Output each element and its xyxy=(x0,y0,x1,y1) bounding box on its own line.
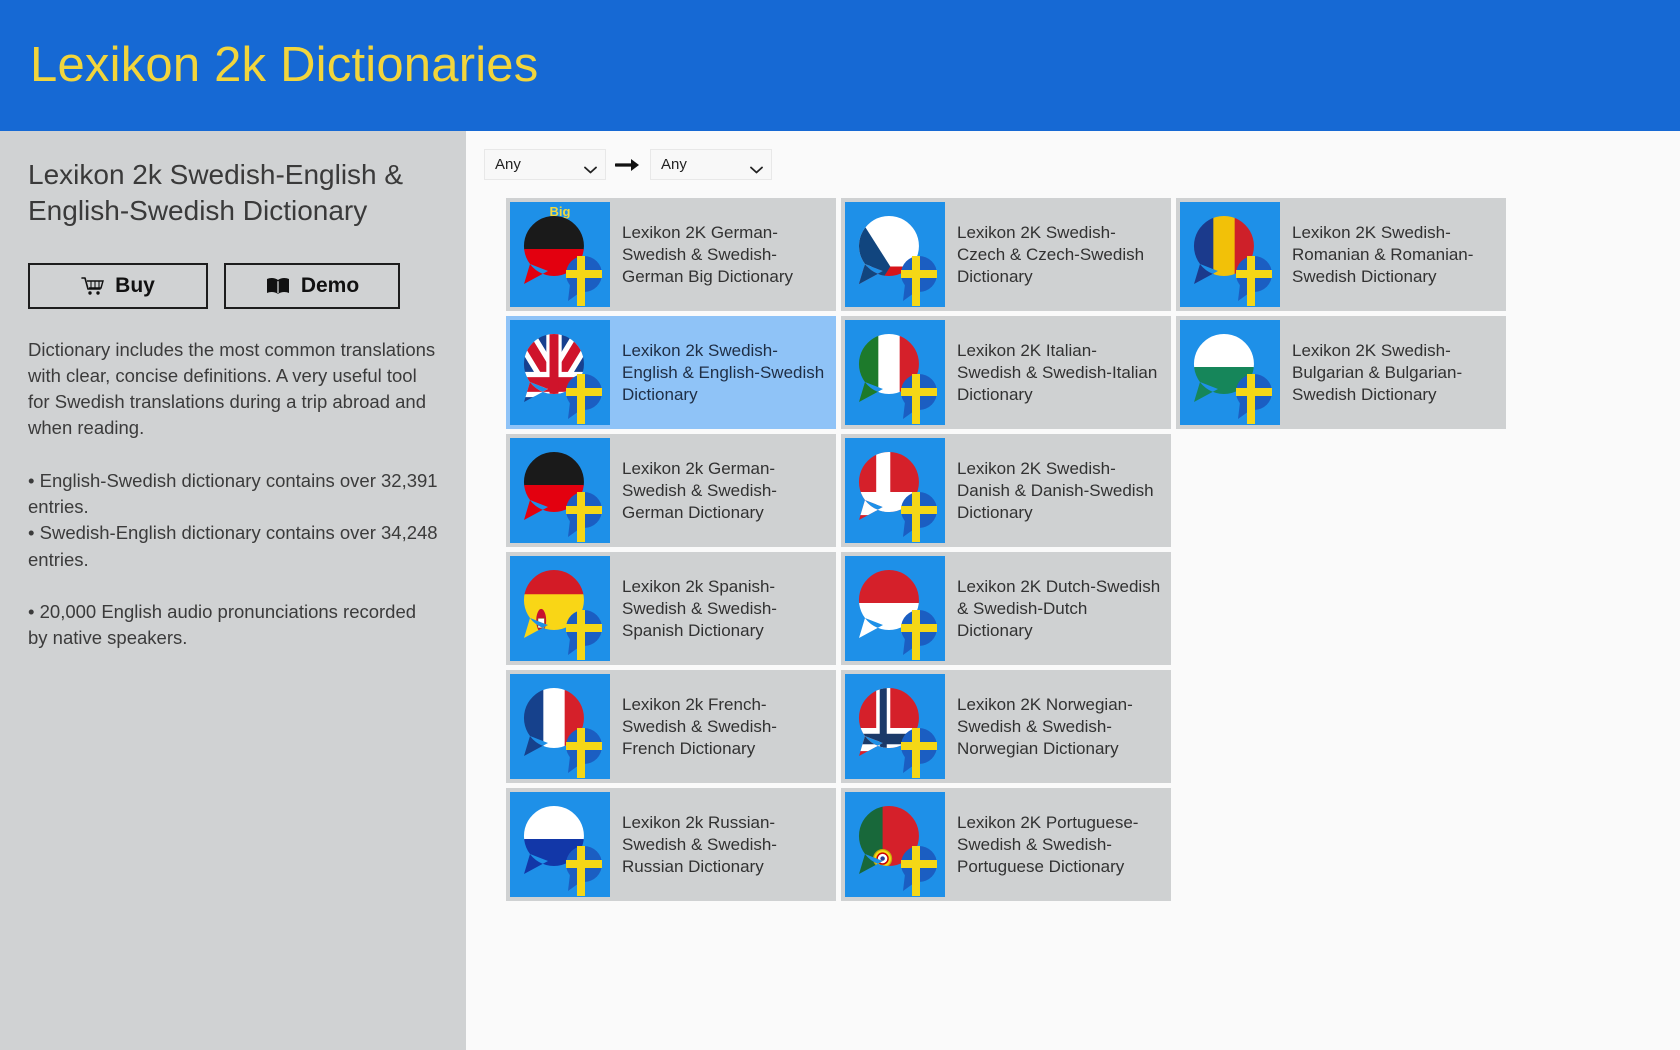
dictionary-item[interactable]: Lexikon 2K Swedish-Bulgarian & Bulgarian… xyxy=(1176,316,1506,429)
buy-button[interactable]: Buy xyxy=(28,263,208,309)
dictionary-item[interactable]: Lexikon 2K Swedish-Romanian & Romanian-S… xyxy=(1176,198,1506,311)
dictionary-item[interactable]: Lexikon 2K Italian-Swedish & Swedish-Ita… xyxy=(841,316,1171,429)
dictionary-flag-icon xyxy=(845,320,945,425)
dictionary-flag-icon xyxy=(845,202,945,307)
dictionary-item[interactable]: Lexikon 2K Swedish-Danish & Danish-Swedi… xyxy=(841,434,1171,547)
dictionary-item-label: Lexikon 2K Swedish-Czech & Czech-Swedish… xyxy=(945,202,1167,287)
dictionary-item-label: Lexikon 2K Portuguese-Swedish & Swedish-… xyxy=(945,792,1167,877)
dictionary-item-label: Lexikon 2K Swedish-Danish & Danish-Swedi… xyxy=(945,438,1167,523)
detail-sidebar: Lexikon 2k Swedish-English & English-Swe… xyxy=(0,131,466,1050)
grid-empty-cell xyxy=(1176,434,1506,547)
action-buttons: Buy Demo xyxy=(28,263,438,309)
feature-item: • Swedish-English dictionary contains ov… xyxy=(28,520,438,573)
page-title: Lexikon 2k Dictionaries xyxy=(30,41,538,90)
dictionary-item-label: Lexikon 2K Swedish-Bulgarian & Bulgarian… xyxy=(1280,320,1502,405)
body-split: Lexikon 2k Swedish-English & English-Swe… xyxy=(0,131,1680,1050)
demo-button[interactable]: Demo xyxy=(224,263,400,309)
grid-empty-cell xyxy=(1176,788,1506,901)
dictionary-item-label: Lexikon 2K Dutch-Swedish & Swedish-Dutch… xyxy=(945,556,1167,641)
dictionary-item[interactable]: Lexikon 2k Russian-Swedish & Swedish-Rus… xyxy=(506,788,836,901)
dictionary-item-label: Lexikon 2k Russian-Swedish & Swedish-Rus… xyxy=(610,792,832,877)
dictionary-item[interactable]: Lexikon 2K Norwegian-Swedish & Swedish-N… xyxy=(841,670,1171,783)
dictionary-item[interactable]: BigLexikon 2K German-Swedish & Swedish-G… xyxy=(506,198,836,311)
demo-button-label: Demo xyxy=(301,274,359,298)
app-header: Lexikon 2k Dictionaries xyxy=(0,0,1680,131)
dictionary-item[interactable]: Lexikon 2K Swedish-Czech & Czech-Swedish… xyxy=(841,198,1171,311)
dictionary-flag-icon xyxy=(510,792,610,897)
filter-bar: Any Any xyxy=(484,149,1680,180)
buy-button-label: Buy xyxy=(115,274,155,298)
chevron-down-icon xyxy=(750,161,763,169)
dictionary-flag-icon xyxy=(1180,202,1280,307)
detail-title: Lexikon 2k Swedish-English & English-Swe… xyxy=(28,157,428,229)
chevron-down-icon xyxy=(584,161,597,169)
source-language-value: Any xyxy=(495,156,521,173)
dictionary-flag-icon xyxy=(510,320,610,425)
dictionary-flag-icon xyxy=(845,792,945,897)
dictionary-flag-icon xyxy=(510,556,610,661)
dictionary-item[interactable]: Lexikon 2k Swedish-English & English-Swe… xyxy=(506,316,836,429)
dictionary-item-label: Lexikon 2K German-Swedish & Swedish-Germ… xyxy=(610,202,832,287)
dictionary-item-label: Lexikon 2K Norwegian-Swedish & Swedish-N… xyxy=(945,674,1167,759)
shopping-cart-icon xyxy=(81,276,105,296)
dictionary-item-label: Lexikon 2k Spanish-Swedish & Swedish-Spa… xyxy=(610,556,832,641)
dictionary-grid: BigLexikon 2K German-Swedish & Swedish-G… xyxy=(506,198,1516,901)
target-language-select[interactable]: Any xyxy=(650,149,772,180)
dictionary-flag-icon xyxy=(845,438,945,543)
dictionary-item[interactable]: Lexikon 2k German-Swedish & Swedish-Germ… xyxy=(506,434,836,547)
dictionary-flag-icon xyxy=(845,674,945,779)
dictionary-item-label: Lexikon 2K Italian-Swedish & Swedish-Ita… xyxy=(945,320,1167,405)
dictionary-flag-icon xyxy=(510,438,610,543)
spacer xyxy=(28,573,438,599)
dictionary-item[interactable]: Lexikon 2K Portuguese-Swedish & Swedish-… xyxy=(841,788,1171,901)
main-panel: Any Any BigLexikon 2K German-Swedish & S… xyxy=(466,131,1680,1050)
dictionary-item-label: Lexikon 2k German-Swedish & Swedish-Germ… xyxy=(610,438,832,523)
dictionary-item-label: Lexikon 2k French-Swedish & Swedish-Fren… xyxy=(610,674,832,759)
detail-description: Dictionary includes the most common tran… xyxy=(28,337,438,442)
source-language-select[interactable]: Any xyxy=(484,149,606,180)
dictionary-flag-icon: Big xyxy=(510,202,610,307)
dictionary-item-label: Lexikon 2k Swedish-English & English-Swe… xyxy=(610,320,832,405)
dictionary-item[interactable]: Lexikon 2k Spanish-Swedish & Swedish-Spa… xyxy=(506,552,836,665)
grid-empty-cell xyxy=(1176,670,1506,783)
target-language-value: Any xyxy=(661,156,687,173)
feature-item: • 20,000 English audio pronunciations re… xyxy=(28,599,438,652)
dictionary-flag-icon xyxy=(510,674,610,779)
open-book-icon xyxy=(265,276,291,296)
arrow-right-icon xyxy=(615,155,641,175)
grid-empty-cell xyxy=(1176,552,1506,665)
dictionary-item[interactable]: Lexikon 2K Dutch-Swedish & Swedish-Dutch… xyxy=(841,552,1171,665)
dictionary-flag-icon xyxy=(845,556,945,661)
feature-item: • English-Swedish dictionary contains ov… xyxy=(28,468,438,521)
dictionary-flag-icon xyxy=(1180,320,1280,425)
dictionary-item-label: Lexikon 2K Swedish-Romanian & Romanian-S… xyxy=(1280,202,1502,287)
dictionary-item[interactable]: Lexikon 2k French-Swedish & Swedish-Fren… xyxy=(506,670,836,783)
